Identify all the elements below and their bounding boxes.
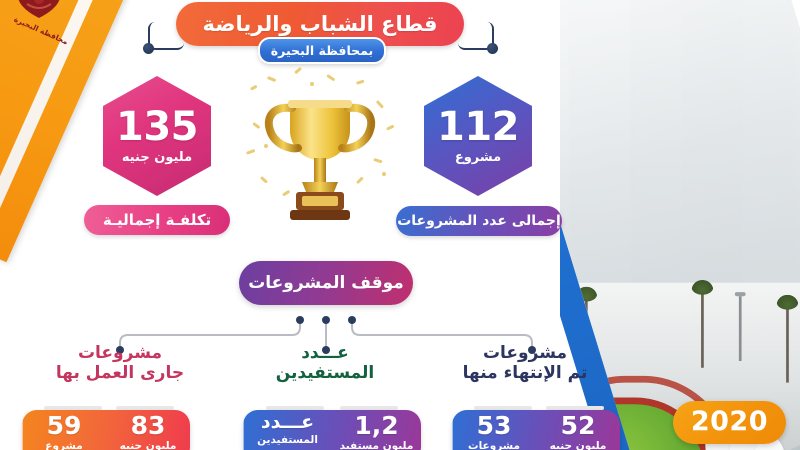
label-total-cost: تكلفـة إجماليـة [84,205,230,235]
page-subtitle-text: بمحافظة البحيرة [271,43,373,58]
stat-beneficiaries-number: 1,2 [354,413,398,438]
page-title-text: قطاع الشباب والرياضة [202,12,437,36]
year-badge: 2020 [673,401,786,444]
stat-beneficiaries-label-line2: المستفيدين [257,434,318,446]
label-total-cost-text: تكلفـة إجماليـة [103,211,211,229]
column-title-beneficiaries-line1: عـــدد [255,344,395,364]
column-title-in-progress: مشروعات جارى العمل بها [35,344,205,383]
projects-status-text: موقف المشروعات [248,273,404,293]
column-title-completed-line1: مشروعات [440,344,610,364]
stat-completed-count: 53 مشروعات [452,410,536,450]
header-connector-dot-left [143,43,154,54]
label-total-projects: إجمالى عدد المشروعات [396,206,562,236]
stat-completed-cost-unit: مليون جنيه [550,440,607,450]
header-connector-dot-right [487,43,498,54]
page-subtitle: بمحافظة البحيرة [258,37,386,64]
column-title-in-progress-line2: جارى العمل بها [35,364,205,384]
stat-in-progress-count: 59 مشروع [22,410,106,450]
stat-completed-cost-value: 52 [561,413,596,438]
column-title-completed: مشروعات تم الإنتهاء منها [440,344,610,383]
infographic-canvas: محافظة البحيرة [0,0,800,450]
stat-in-progress-cost: 83 مليون جنيه [106,410,190,450]
stat-box-completed: 52 مليون جنيه 53 مشروعات [452,410,620,450]
stat-beneficiaries-label: عـــدد المستفيدين [243,410,332,450]
stat-in-progress-cost-unit: مليون جنيه [120,440,177,450]
stat-in-progress-count-value: 59 [47,413,82,438]
stat-beneficiaries-value: 1,2 مليون مستفيد [332,410,421,450]
stat-box-in-progress: 83 مليون جنيه 59 مشروع [22,410,190,450]
column-title-completed-line2: تم الإنتهاء منها [440,364,610,384]
stat-beneficiaries-label-line1: عـــدد [261,413,314,432]
column-title-in-progress-line1: مشروعات [35,344,205,364]
stat-completed-count-unit: مشروعات [468,440,520,450]
hex-unit-total-cost: مليون جنيه [122,150,192,165]
trophy-icon [236,66,404,238]
hex-value-total-cost: 135 [116,108,198,146]
stat-completed-cost: 52 مليون جنيه [536,410,620,450]
hex-unit-total-projects: مشروع [455,150,501,165]
stat-completed-count-value: 53 [477,413,512,438]
column-title-beneficiaries-line2: المستفيدين [255,364,395,384]
hex-value-total-projects: 112 [437,108,519,146]
stat-hexagon-total-projects: 112 مشروع [424,76,532,196]
projects-status-pill: موقف المشروعات [239,261,413,305]
stat-in-progress-count-unit: مشروع [45,440,82,450]
stat-in-progress-cost-value: 83 [131,413,166,438]
label-total-projects-text: إجمالى عدد المشروعات [397,213,561,229]
stat-beneficiaries-unit: مليون مستفيد [340,440,414,450]
column-title-beneficiaries: عـــدد المستفيدين [255,344,395,383]
stat-box-beneficiaries: 1,2 مليون مستفيد عـــدد المستفيدين [243,410,421,450]
stat-hexagon-total-cost: 135 مليون جنيه [103,76,211,196]
